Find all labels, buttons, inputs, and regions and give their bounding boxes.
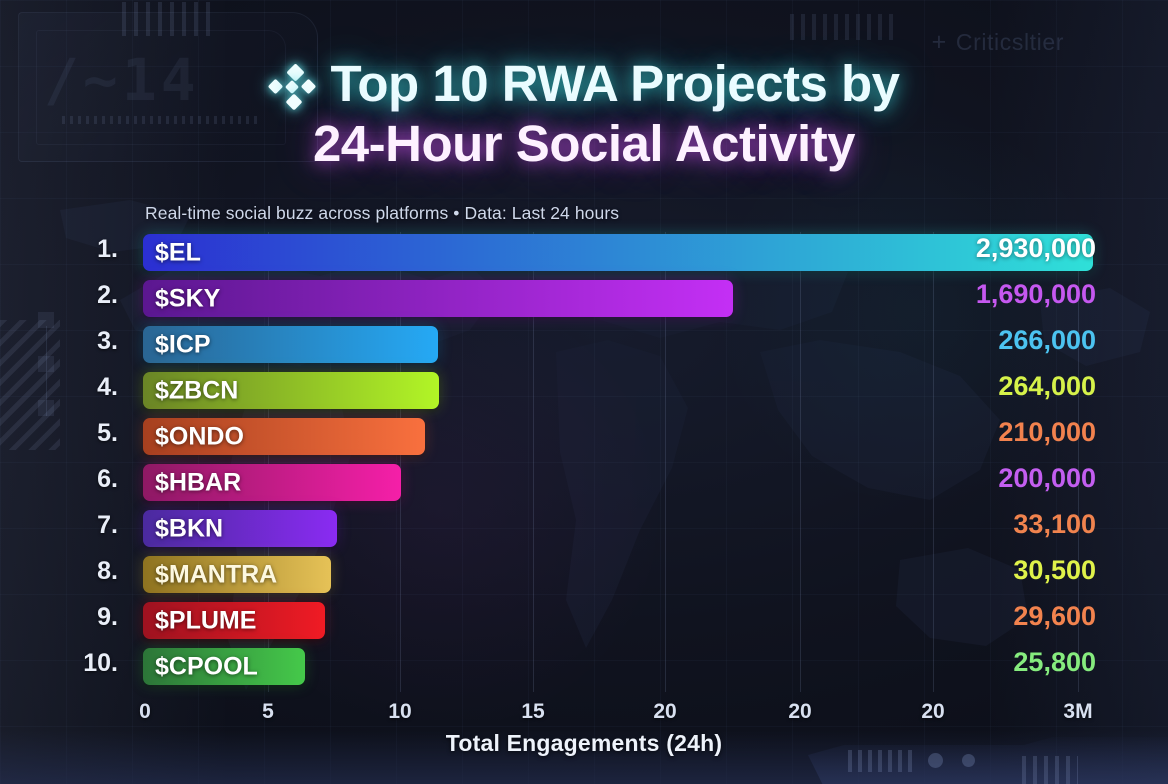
bar-row[interactable]: 4.$ZBCN264,000 [0,370,1168,416]
x-axis-tick: 0 [139,700,151,724]
bar-chart: 1.$EL2,930,0002.$SKY1,690,0003.$ICP266,0… [0,232,1168,692]
x-axis: 0510152020203M [0,700,1168,730]
rank-label: 3. [0,327,118,356]
hud-bars-top [122,2,218,36]
bar-value-label: 264,000 [998,371,1096,402]
x-axis-tick: 3M [1063,700,1092,724]
bar-value-label: 266,000 [998,325,1096,356]
bar-label: $EL [155,238,201,267]
x-axis-title: Total Engagements (24h) [0,730,1168,757]
rank-label: 5. [0,419,118,448]
hud-bars-top-right [790,14,900,40]
bar[interactable]: $ONDO [143,418,425,455]
bar[interactable]: $BKN [143,510,337,547]
bar-label: $BKN [155,514,223,543]
bar[interactable]: $CPOOL [143,648,305,685]
plus-icon: + [932,28,947,57]
bar-label: $ICP [155,330,211,359]
x-axis-tick: 10 [388,700,411,724]
bar[interactable]: $ZBCN [143,372,439,409]
bar-row[interactable]: 7.$BKN33,100 [0,508,1168,554]
rank-label: 4. [0,373,118,402]
bar-label: $CPOOL [155,652,258,681]
bar-row[interactable]: 5.$ONDO210,000 [0,416,1168,462]
x-axis-tick: 20 [788,700,811,724]
rank-label: 9. [0,603,118,632]
bar-label: $HBAR [155,468,241,497]
page-title-line-1: Top 10 RWA Projects by [0,54,1168,114]
x-axis-tick: 20 [921,700,944,724]
bar[interactable]: $ICP [143,326,438,363]
bar[interactable]: $MANTRA [143,556,331,593]
sparkles-icon [268,63,324,109]
rank-label: 2. [0,281,118,310]
bar-label: $MANTRA [155,560,277,589]
x-axis-tick: 20 [653,700,676,724]
rank-label: 6. [0,465,118,494]
bar-row[interactable]: 1.$EL2,930,000 [0,232,1168,278]
title-text-1: Top 10 RWA Projects by [330,55,899,112]
infographic-canvas: /~14 + Criticsltier Top 10 RWA Projects … [0,0,1168,784]
x-axis-tick: 5 [262,700,274,724]
bar-value-label: 2,930,000 [976,233,1096,264]
rank-label: 7. [0,511,118,540]
bar-row[interactable]: 9.$PLUME29,600 [0,600,1168,646]
x-axis-tick: 15 [521,700,544,724]
bar[interactable]: $EL [143,234,1093,271]
bar[interactable]: $PLUME [143,602,325,639]
bar-row[interactable]: 6.$HBAR200,000 [0,462,1168,508]
watermark: + Criticsltier [932,28,1064,57]
watermark-text: Criticsltier [956,29,1064,56]
bar-value-label: 30,500 [1013,555,1096,586]
bar-value-label: 1,690,000 [976,279,1096,310]
rank-label: 10. [0,649,118,678]
bar-label: $PLUME [155,606,256,635]
bar-row[interactable]: 10.$CPOOL25,800 [0,646,1168,692]
rank-label: 8. [0,557,118,586]
bar-row[interactable]: 3.$ICP266,000 [0,324,1168,370]
bar-row[interactable]: 8.$MANTRA30,500 [0,554,1168,600]
bar[interactable]: $HBAR [143,464,401,501]
hud-bottom-bars-right [1022,756,1078,784]
bar-value-label: 210,000 [998,417,1096,448]
bar-value-label: 25,800 [1013,647,1096,678]
subtitle: Real-time social buzz across platforms •… [145,203,619,224]
header: Top 10 RWA Projects by 24-Hour Social Ac… [0,54,1168,173]
bar-label: $ONDO [155,422,244,451]
bar-value-label: 29,600 [1013,601,1096,632]
bar-label: $SKY [155,284,220,313]
page-title-line-2: 24-Hour Social Activity [0,114,1168,174]
bar-label: $ZBCN [155,376,238,405]
bar-row[interactable]: 2.$SKY1,690,000 [0,278,1168,324]
bar-value-label: 200,000 [998,463,1096,494]
bar-value-label: 33,100 [1013,509,1096,540]
rank-label: 1. [0,235,118,264]
bar[interactable]: $SKY [143,280,733,317]
